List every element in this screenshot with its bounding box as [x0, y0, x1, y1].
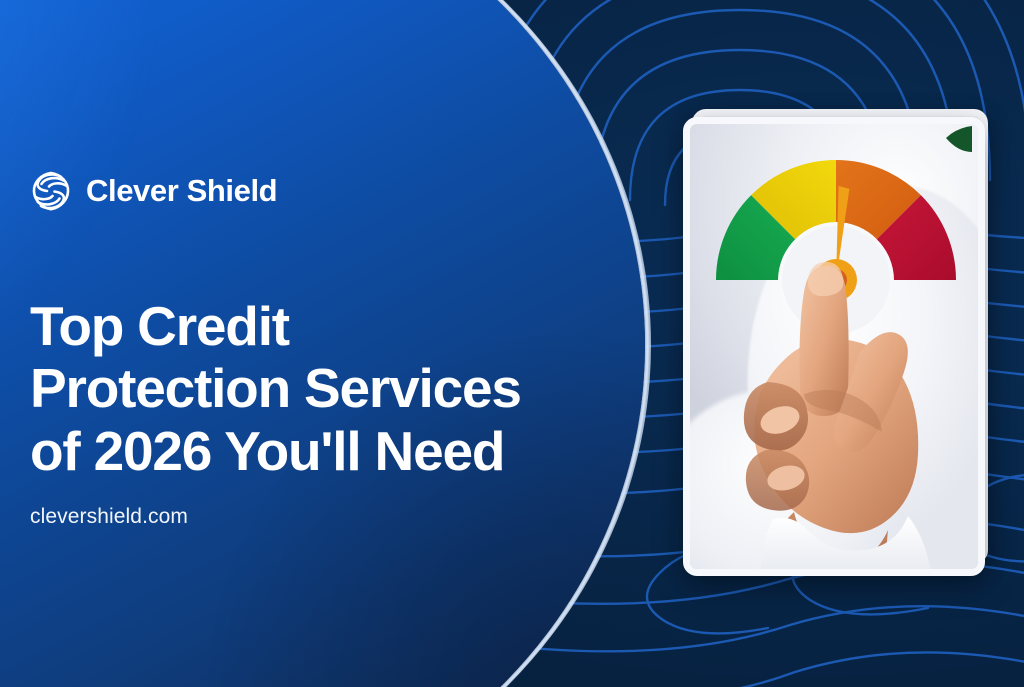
- brand-logo: Clever Shield: [30, 168, 277, 214]
- brand-name: Clever Shield: [86, 173, 277, 209]
- page-title: Top Credit Protection Services of 2026 Y…: [30, 295, 630, 482]
- globe-s-shield-icon: [30, 168, 72, 214]
- headline-line-1: Top Credit: [30, 295, 289, 357]
- content-column: Clever Shield Top Credit Protection Serv…: [30, 0, 630, 687]
- website-url: clevershield.com: [30, 505, 188, 529]
- marketing-banner: Clever Shield Top Credit Protection Serv…: [0, 0, 1024, 687]
- credit-score-gauge-photo: [690, 124, 978, 569]
- photo-card-front: [683, 117, 985, 576]
- pointing-hand-illustration: [708, 244, 958, 569]
- green-corner-accent-icon: [938, 126, 972, 156]
- headline-line-3: of 2026 You'll Need: [30, 420, 504, 482]
- headline-line-2: Protection Services: [30, 357, 521, 419]
